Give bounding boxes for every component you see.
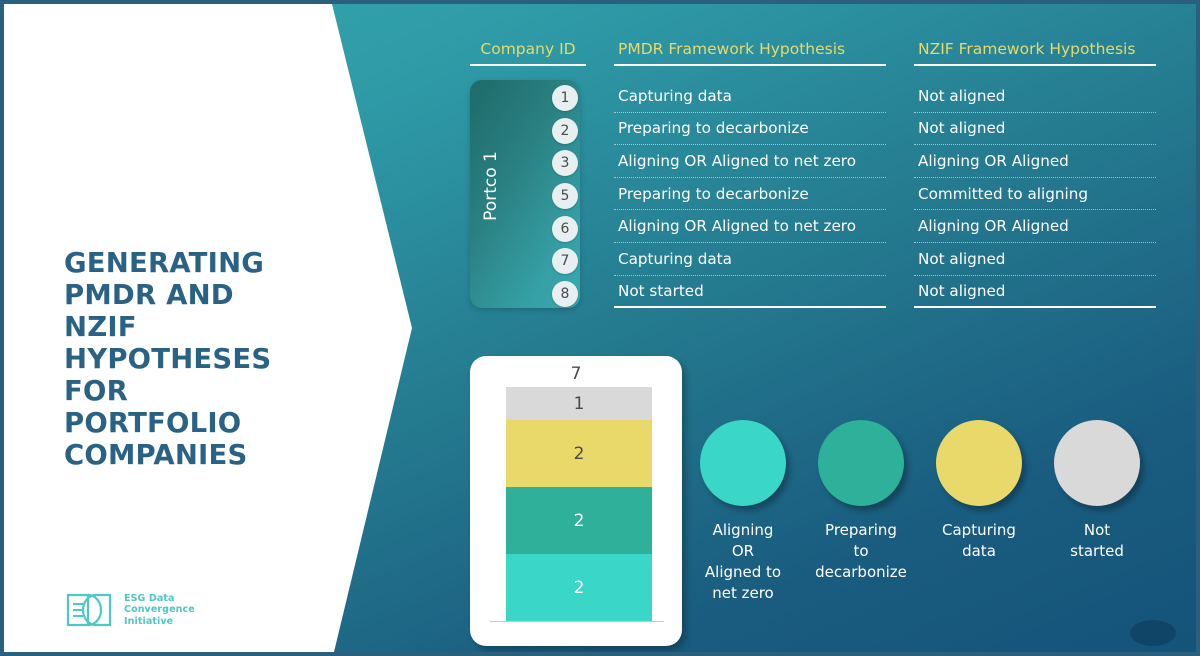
legend-item-aligning: Aligning OR Aligned to net zero xyxy=(700,420,786,604)
legend-item-preparing: Preparing to decarbonize xyxy=(818,420,904,604)
column-header-company-id: Company ID xyxy=(470,40,586,66)
company-id-badge: 2 xyxy=(552,118,578,144)
pmdr-cell: Aligning OR Aligned to net zero xyxy=(614,210,886,243)
table-row: 6 xyxy=(470,212,586,245)
table-row: 3 xyxy=(470,147,586,180)
bar-segment-not-started: 1 xyxy=(506,387,652,420)
table-row: 7 xyxy=(470,245,586,278)
table-row: 8 xyxy=(470,278,586,311)
nzif-cell: Committed to aligning xyxy=(914,178,1156,211)
table-header-row: Company ID PMDR Framework Hypothesis NZI… xyxy=(470,40,1170,66)
nzif-column: Not aligned Not aligned Aligning OR Alig… xyxy=(914,80,1156,310)
stacked-bar-chart-card: 7 1 2 2 2 xyxy=(470,356,682,646)
table-row: 1 xyxy=(470,82,586,115)
company-id-badge: 6 xyxy=(552,216,578,242)
bar-segment-preparing-to-decarbonize: 2 xyxy=(506,487,652,554)
legend-label: Not started xyxy=(1070,520,1124,562)
bar-segment-capturing-data: 2 xyxy=(506,420,652,487)
legend-label: Aligning OR Aligned to net zero xyxy=(700,520,786,604)
company-id-badge: 5 xyxy=(552,183,578,209)
legend-swatch-icon xyxy=(818,420,904,506)
hypotheses-table: Company ID PMDR Framework Hypothesis NZI… xyxy=(470,40,1170,310)
pmdr-cell: Capturing data xyxy=(614,80,886,113)
legend-label: Capturing data xyxy=(942,520,1016,562)
company-id-column: Portco 1 1 2 3 5 6 7 8 xyxy=(470,80,586,310)
background-ellipse-shadow xyxy=(1130,620,1176,646)
bar-segment-aligning-or-aligned: 2 xyxy=(506,554,652,621)
nzif-cell: Not aligned xyxy=(914,80,1156,113)
column-header-pmdr: PMDR Framework Hypothesis xyxy=(614,40,886,66)
table-row: 2 xyxy=(470,115,586,148)
legend-swatch-icon xyxy=(936,420,1022,506)
page-title: GENERATING PMDR AND NZIF HYPOTHESES FOR … xyxy=(64,247,314,471)
nzif-cell: Aligning OR Aligned xyxy=(914,145,1156,178)
legend-item-capturing: Capturing data xyxy=(936,420,1022,604)
company-id-badges: 1 2 3 5 6 7 8 xyxy=(470,80,586,310)
company-id-badge: 3 xyxy=(552,150,578,176)
table-row: 5 xyxy=(470,180,586,213)
company-id-badge: 7 xyxy=(552,248,578,274)
company-id-badge: 8 xyxy=(552,281,578,307)
pmdr-cell: Preparing to decarbonize xyxy=(614,178,886,211)
pmdr-cell: Aligning OR Aligned to net zero xyxy=(614,145,886,178)
book-venn-logo-icon xyxy=(66,592,114,628)
slide: GENERATING PMDR AND NZIF HYPOTHESES FOR … xyxy=(0,0,1200,656)
pmdr-cell: Capturing data xyxy=(614,243,886,276)
column-header-nzif: NZIF Framework Hypothesis xyxy=(914,40,1156,66)
nzif-cell: Not aligned xyxy=(914,243,1156,276)
pmdr-cell: Preparing to decarbonize xyxy=(614,113,886,146)
logo-text: ESG Data Convergence Initiative xyxy=(124,593,195,628)
nzif-cell: Aligning OR Aligned xyxy=(914,210,1156,243)
bar-total-label: 7 xyxy=(470,364,682,384)
brand-logo: ESG Data Convergence Initiative xyxy=(66,592,195,628)
table-body: Portco 1 1 2 3 5 6 7 8 Capturing data Pr… xyxy=(470,80,1170,310)
chart-axis-line xyxy=(490,621,664,623)
chart-legend: Aligning OR Aligned to net zero Preparin… xyxy=(700,420,1140,604)
pmdr-cell: Not started xyxy=(614,276,886,309)
nzif-cell: Not aligned xyxy=(914,113,1156,146)
legend-label: Preparing to decarbonize xyxy=(815,520,907,583)
legend-item-not-started: Not started xyxy=(1054,420,1140,604)
stacked-bar: 1 2 2 2 xyxy=(506,387,652,621)
legend-swatch-icon xyxy=(1054,420,1140,506)
nzif-cell: Not aligned xyxy=(914,276,1156,309)
pmdr-column: Capturing data Preparing to decarbonize … xyxy=(614,80,886,310)
legend-swatch-icon xyxy=(700,420,786,506)
company-id-badge: 1 xyxy=(552,85,578,111)
